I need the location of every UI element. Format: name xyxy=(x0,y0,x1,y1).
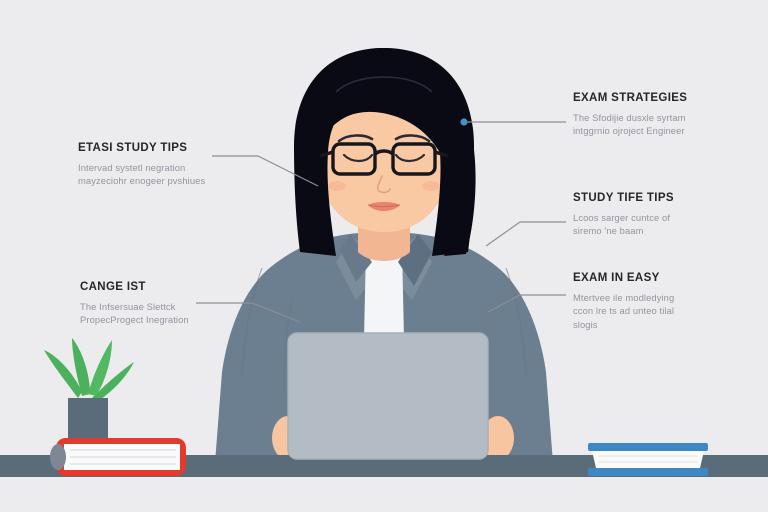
book-blue xyxy=(588,443,708,476)
callout-title: ETASI STUDY TIPS xyxy=(78,142,253,155)
callout-body: Lcoos sarger cuntce of siremo 'ne baam xyxy=(573,211,753,238)
callout-title: EXAM IN EASY xyxy=(573,272,758,285)
anchor-dot xyxy=(460,118,467,125)
cheek-right xyxy=(422,181,440,191)
callout-exam-strategies: EXAM STRATEGIES The Sfodijie dusxle syrt… xyxy=(573,92,753,138)
callout-body: Mtertvee ile modledying ccon lre ts ad u… xyxy=(573,291,758,332)
callout-body: The Sfodijie dusxle syrtam intggrnio ojr… xyxy=(573,111,753,138)
callout-title: CANGE IST xyxy=(80,281,265,294)
cheek-left xyxy=(328,181,346,191)
infographic-canvas: ETASI STUDY TIPS Intervad systetl negrat… xyxy=(0,0,768,512)
callout-body: Intervad systetl negration mayzeciohr en… xyxy=(78,161,253,188)
callout-study-life-tips: STUDY TIFE TIPS Lcoos sarger cuntce of s… xyxy=(573,192,753,238)
illustration-scene xyxy=(0,0,768,512)
callout-title: STUDY TIFE TIPS xyxy=(573,192,753,205)
callout-exam-in-easy: EXAM IN EASY Mtertvee ile modledying cco… xyxy=(573,272,758,332)
callout-body: The Infsersuae Slettck PropecProgect Ine… xyxy=(80,300,265,327)
laptop xyxy=(288,333,488,459)
desk-front xyxy=(0,477,768,512)
book-red xyxy=(50,438,186,476)
callout-study-tips: ETASI STUDY TIPS Intervad systetl negrat… xyxy=(78,142,253,188)
callout-title: EXAM STRATEGIES xyxy=(573,92,753,105)
callout-change-list: CANGE IST The Infsersuae Slettck PropecP… xyxy=(80,281,265,327)
